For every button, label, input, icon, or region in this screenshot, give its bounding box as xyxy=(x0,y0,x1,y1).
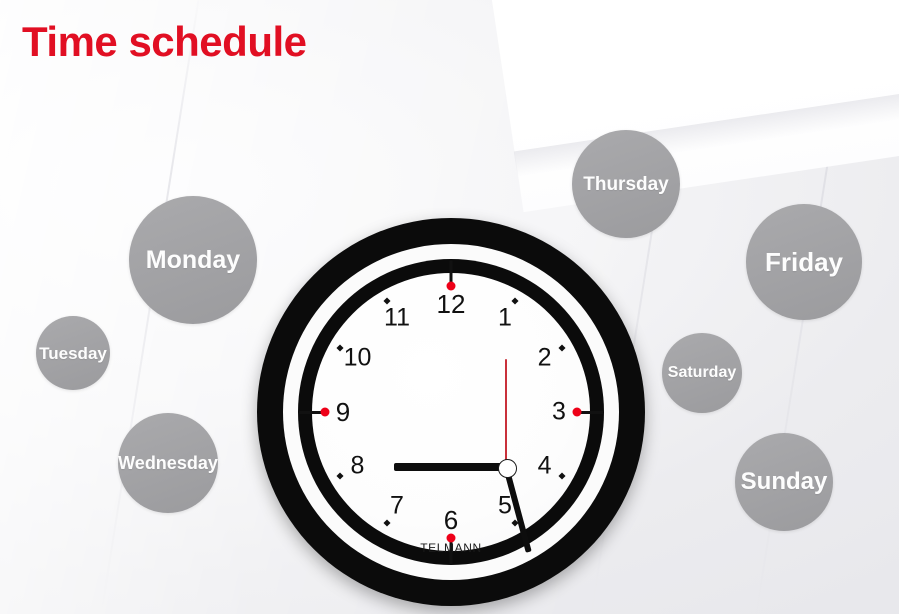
clock-marker-dot xyxy=(511,298,518,305)
clock-numeral-3: 3 xyxy=(552,400,566,425)
clock-numeral-4: 4 xyxy=(538,454,552,479)
day-bubble-label: Saturday xyxy=(668,365,736,381)
clock-face: 121234567891011 TELMANN xyxy=(312,273,590,551)
clock-marker-dot xyxy=(558,344,565,351)
day-bubble-label: Tuesday xyxy=(39,345,107,362)
day-bubble-label: Sunday xyxy=(741,470,828,494)
clock-numeral-2: 2 xyxy=(538,346,552,371)
clock-marker-dot-red xyxy=(321,408,330,417)
clock-numeral-9: 9 xyxy=(336,399,350,425)
day-bubble-label: Monday xyxy=(146,248,240,273)
day-bubble-friday[interactable]: Friday xyxy=(746,204,862,320)
clock-numeral-11: 11 xyxy=(384,306,410,331)
day-bubble-label: Thursday xyxy=(583,175,669,194)
clock-numeral-1: 1 xyxy=(498,306,512,331)
clock-numeral-6: 6 xyxy=(444,507,458,533)
day-bubble-monday[interactable]: Monday xyxy=(129,196,257,324)
clock-minute-hand xyxy=(394,463,506,471)
clock-marker-dot-red xyxy=(573,408,582,417)
clock-marker-dot xyxy=(337,472,344,479)
clock-brand-label: TELMANN xyxy=(420,541,482,555)
day-bubble-saturday[interactable]: Saturday xyxy=(662,333,742,413)
clock-marker-dot xyxy=(383,519,390,526)
clock-numeral-7: 7 xyxy=(390,493,404,518)
clock-numeral-12: 12 xyxy=(437,291,466,317)
clock-numeral-8: 8 xyxy=(351,454,365,479)
day-bubble-sunday[interactable]: Sunday xyxy=(735,433,833,531)
slide-canvas: Time schedule MondayTuesdayWednesdayThur… xyxy=(0,0,899,614)
day-bubble-tuesday[interactable]: Tuesday xyxy=(36,316,110,390)
clock-marker-dot xyxy=(558,472,565,479)
page-title: Time schedule xyxy=(22,21,307,63)
clock-second-hand xyxy=(505,359,507,467)
clock-center-pivot xyxy=(498,459,517,478)
day-bubble-label: Friday xyxy=(765,249,843,275)
wall-clock: 121234567891011 TELMANN xyxy=(257,218,645,606)
day-bubble-wednesday[interactable]: Wednesday xyxy=(118,413,218,513)
clock-numeral-5: 5 xyxy=(498,493,512,518)
day-bubble-label: Wednesday xyxy=(118,454,218,472)
clock-numeral-10: 10 xyxy=(344,346,372,371)
